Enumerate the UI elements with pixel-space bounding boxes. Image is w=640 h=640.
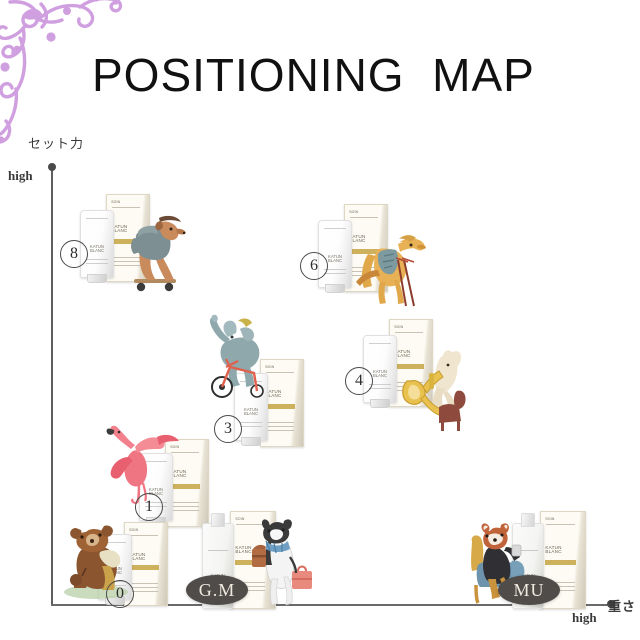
map-item-mu[interactable]: SOIN KATUN BLANC KATUN BLANC — [468, 505, 594, 610]
product-box-top-text: SOIN — [545, 517, 576, 521]
elephant-on-tricycle-illustration — [202, 315, 284, 401]
y-axis-title: セット力 — [28, 133, 84, 152]
map-marker-4[interactable]: 4 — [345, 367, 373, 395]
x-axis-title: 重さ — [608, 596, 636, 615]
map-item-6[interactable]: SOIN KATUN BLANC KATUN BLANC — [300, 200, 428, 308]
cat-with-luggage-illustration — [252, 517, 314, 607]
product-box-top-text: SOIN — [394, 325, 423, 329]
y-axis-high-label: high — [8, 168, 33, 184]
map-badge-mu[interactable]: MU — [498, 575, 560, 605]
map-marker-8[interactable]: 8 — [60, 240, 88, 268]
flamingo-illustration — [105, 423, 181, 505]
product-box-top-text: SOIN — [349, 210, 378, 214]
product-box-brand-text: KATUN BLANC — [545, 546, 576, 555]
y-axis-line — [51, 168, 53, 606]
fox-skiing-illustration — [354, 226, 428, 308]
product-tube: KATUN BLANC — [80, 210, 114, 278]
y-axis-arrow-cap — [48, 163, 56, 171]
dog-on-skateboard-illustration — [118, 208, 190, 300]
product-tube-brand-text: KATUN BLANC — [85, 245, 108, 253]
map-badge-gm[interactable]: G.M — [186, 575, 248, 605]
x-axis-high-label: high — [572, 610, 597, 626]
page-title: POSITIONING MAP — [92, 48, 535, 102]
map-item-4[interactable]: SOIN KATUN BLANC KATUN BLANC — [345, 315, 473, 427]
product-box-top-text: SOIN — [111, 200, 140, 204]
map-item-8[interactable]: SOIN KATUN BLANC KATUN BLANC — [60, 188, 190, 300]
positioning-map-canvas: POSITIONING MAP セット力 high 重さ high SOIN K… — [0, 0, 640, 640]
map-marker-6[interactable]: 6 — [300, 252, 328, 280]
map-item-gm[interactable]: SOIN KATUN BLANC KATUN BLANC — [188, 505, 314, 610]
rabbit-with-tuba-illustration — [399, 351, 473, 427]
product-tube-brand-text: KATUN BLANC — [239, 408, 262, 416]
map-item-0[interactable]: SOIN KATUN BLANC KATUN BLANC — [62, 512, 190, 612]
map-marker-0[interactable]: 0 — [106, 580, 134, 608]
product-tube: KATUN BLANC — [318, 220, 352, 288]
product-tube: KATUN BLANC — [363, 335, 397, 403]
